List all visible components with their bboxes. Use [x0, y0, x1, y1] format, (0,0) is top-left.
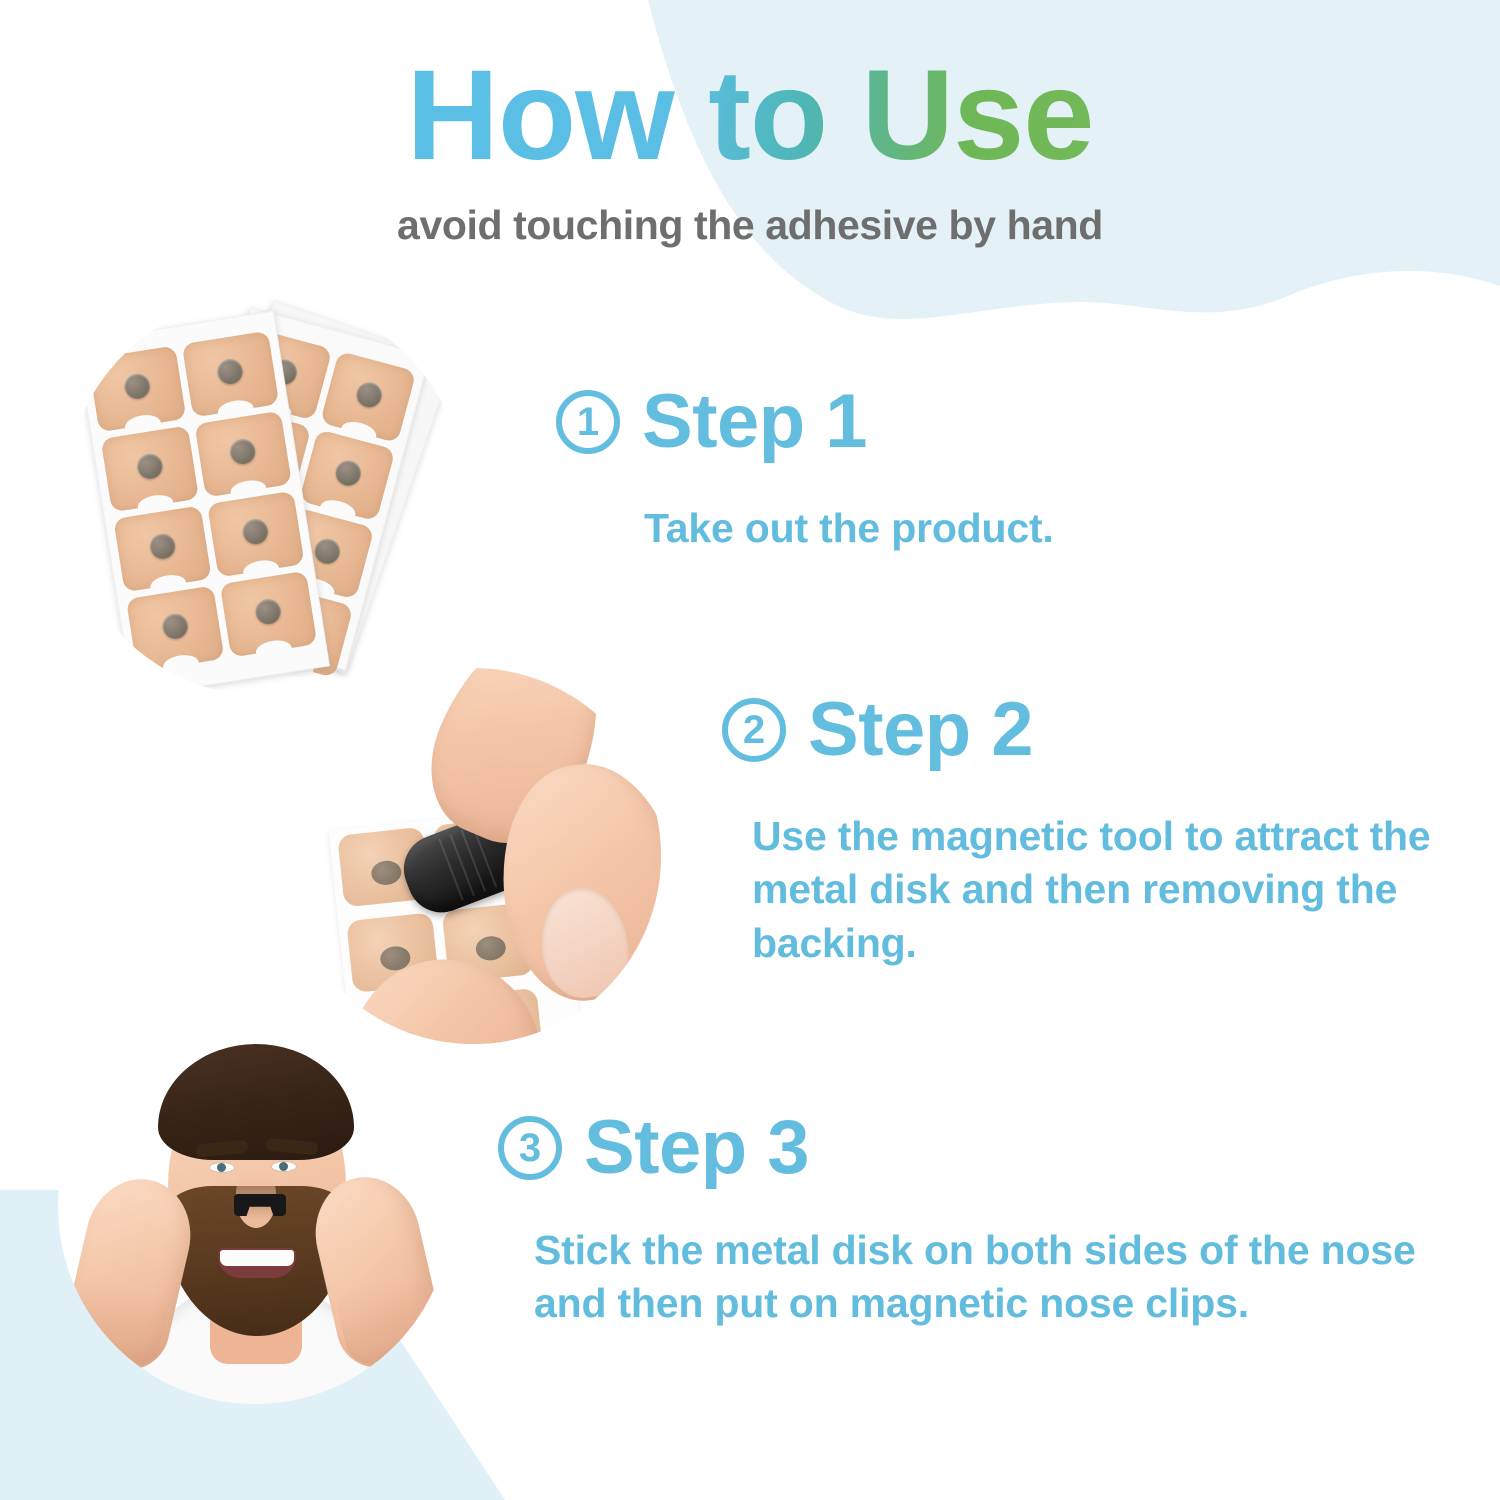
adhesive-patch	[181, 331, 279, 418]
teeth	[220, 1250, 294, 1266]
metal-disk-icon	[123, 372, 152, 401]
metal-disk-icon	[370, 859, 402, 886]
adhesive-patch	[113, 506, 211, 593]
metal-disk-icon	[312, 536, 343, 567]
metal-disk-icon	[354, 379, 385, 410]
step-title: Step 2	[808, 692, 1033, 768]
step-1-photo	[65, 296, 465, 696]
metal-disk-icon	[161, 612, 190, 641]
adhesive-patch	[207, 491, 305, 578]
step-3-block: 3 Step 3 Stick the metal disk on both si…	[498, 1110, 1478, 1331]
eye-left	[209, 1162, 235, 1173]
metal-disk-icon	[254, 597, 283, 626]
metal-disk-icon	[216, 357, 245, 386]
step-2-heading: 2 Step 2	[722, 692, 1462, 768]
metal-disk-icon	[333, 458, 364, 489]
metal-disk-icon	[474, 935, 506, 962]
hair	[158, 1044, 354, 1160]
adhesive-patch	[101, 426, 199, 513]
eye-right	[271, 1161, 297, 1172]
metal-disk-icon	[148, 532, 177, 561]
step-description: Stick the metal disk on both sides of th…	[534, 1224, 1478, 1331]
adhesive-patch	[194, 411, 292, 498]
fingernail	[534, 882, 634, 1003]
metal-disk-icon	[135, 452, 164, 481]
metal-disk-icon	[241, 517, 270, 546]
step-3-heading: 3 Step 3	[498, 1110, 1478, 1186]
step-title: Step 3	[584, 1110, 809, 1186]
step-2-block: 2 Step 2 Use the magnetic tool to attrac…	[722, 692, 1462, 970]
step-number-badge: 1	[556, 390, 620, 454]
adhesive-patch	[219, 571, 317, 658]
step-3-photo	[58, 1010, 452, 1404]
step-title: Step 1	[642, 384, 867, 460]
step-number-badge: 2	[722, 698, 786, 762]
metal-disk-icon	[229, 437, 258, 466]
adhesive-patch	[126, 586, 224, 673]
adhesive-patch	[88, 346, 186, 433]
page-header: How to Use avoid touching the adhesive b…	[0, 0, 1500, 249]
step-description: Use the magnetic tool to attract the met…	[752, 810, 1462, 970]
step-number-badge: 3	[498, 1116, 562, 1180]
smiling-mouth	[218, 1248, 296, 1278]
adhesive-patch	[299, 429, 396, 521]
step-1-block: 1 Step 1 Take out the product.	[556, 384, 1256, 555]
page-subtitle: avoid touching the adhesive by hand	[0, 202, 1500, 249]
step-description: Take out the product.	[644, 502, 1256, 555]
page-title: How to Use	[407, 0, 1094, 180]
step-1-heading: 1 Step 1	[556, 384, 1256, 460]
adhesive-patch	[319, 351, 416, 443]
step-2-photo	[285, 668, 661, 1044]
